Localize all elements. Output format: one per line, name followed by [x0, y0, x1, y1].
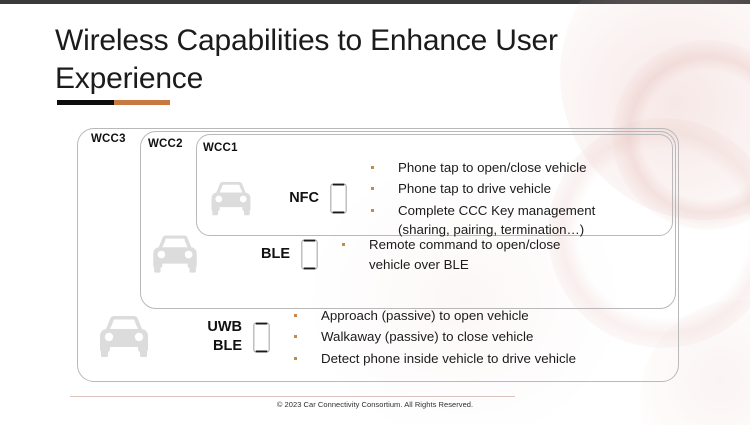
car-front-icon — [92, 312, 156, 362]
bullet-item: Phone tap to open/close vehicle — [368, 158, 595, 177]
bullet-item: Detect phone inside vehicle to drive veh… — [291, 349, 576, 368]
tech-row-nfc: NFC Phone tap to open/close vehicle Phon… — [205, 158, 595, 240]
title-accent-rule — [57, 100, 170, 105]
bullet-item: Remote command to open/close vehicle ove… — [339, 235, 560, 274]
phone-icon — [253, 322, 270, 353]
bullet-item: Phone tap to drive vehicle — [368, 179, 595, 198]
phone-icon — [330, 183, 347, 214]
tech-row-uwb-ble: UWB BLE Approach (passive) to open vehic… — [92, 306, 576, 368]
tech-label-ble: BLE — [218, 245, 290, 264]
bullet-item: Walkaway (passive) to close vehicle — [291, 327, 576, 346]
slide-title: Wireless Capabilities to Enhance User Ex… — [55, 22, 675, 99]
tech-row-ble: BLE Remote command to open/close vehicle… — [146, 232, 560, 277]
phone-icon — [301, 239, 318, 270]
accent-dark-segment — [57, 100, 114, 105]
slide-canvas: Wireless Capabilities to Enhance User Ex… — [0, 0, 750, 425]
wcc3-label: WCC3 — [89, 133, 128, 145]
footer-copyright: © 2023 Car Connectivity Consortium. All … — [0, 400, 750, 409]
bullet-list-uwb-ble: Approach (passive) to open vehicle Walka… — [291, 306, 576, 368]
footer-divider — [70, 396, 515, 397]
wcc2-label: WCC2 — [146, 138, 185, 150]
tech-label-nfc: NFC — [263, 189, 319, 208]
tech-label-uwb-ble: UWB BLE — [170, 318, 242, 356]
bullet-item: Approach (passive) to open vehicle — [291, 306, 576, 325]
bullet-list-nfc: Phone tap to open/close vehicle Phone ta… — [368, 158, 595, 240]
car-front-icon — [205, 179, 257, 219]
bullet-list-ble: Remote command to open/close vehicle ove… — [339, 235, 560, 274]
wcc1-label: WCC1 — [201, 142, 240, 154]
car-front-icon — [146, 232, 204, 277]
top-border-strip — [0, 0, 750, 4]
accent-orange-segment — [114, 100, 171, 105]
